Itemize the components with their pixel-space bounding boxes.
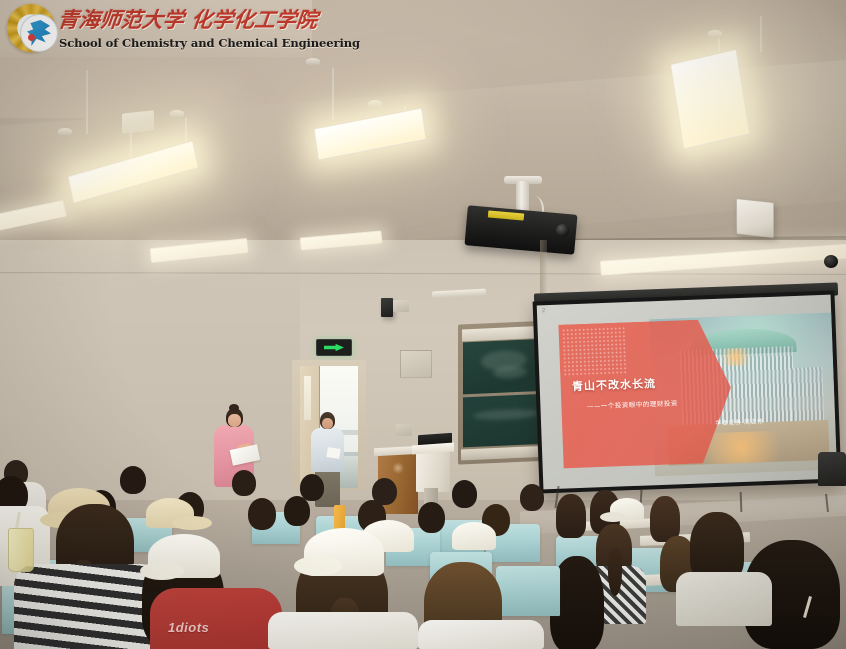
projection-screen: 2 青山不改水长流 ——一个投资眼中的理财投资 华泰证券 周志伟 xyxy=(533,291,842,494)
presenter-woman-hair-bun xyxy=(229,404,239,412)
lecture-seat[interactable] xyxy=(496,566,560,616)
seal-red-dot-icon xyxy=(28,34,35,41)
audience-head xyxy=(248,498,276,530)
security-camera-icon xyxy=(824,255,838,268)
wall-column-edge xyxy=(540,240,547,298)
light-hanger-wire xyxy=(86,70,88,134)
audience-cap xyxy=(452,522,496,550)
chair xyxy=(818,452,846,486)
wall-speaker-icon xyxy=(736,198,774,238)
audience-head xyxy=(284,496,310,526)
slide-subtitle: ——一个投资眼中的理财投资 xyxy=(587,394,767,411)
ceiling-light-panel xyxy=(670,49,750,149)
door-glass-panel xyxy=(304,376,311,420)
audience-head xyxy=(232,470,256,496)
lectern-emblem-icon xyxy=(392,462,404,474)
slide-text-block: 青山不改水长流 ——一个投资眼中的理财投资 华泰证券 周志伟 xyxy=(572,371,768,432)
audience-head xyxy=(120,466,146,494)
seal-inner-disc xyxy=(20,14,58,52)
wall-outlet xyxy=(396,424,412,436)
ceiling-speaker-icon xyxy=(368,100,382,107)
seal-bird-icon xyxy=(27,20,51,46)
ceiling-diffuser xyxy=(122,110,154,133)
audience-cap-brim xyxy=(140,562,184,580)
light-hanger-wire xyxy=(760,16,762,52)
exit-arrow-icon xyxy=(324,344,344,352)
av-control-console[interactable] xyxy=(416,450,450,492)
audience-head xyxy=(300,474,324,501)
audience-torso-red xyxy=(150,588,282,649)
light-hanger-wire xyxy=(332,68,334,120)
presenter-woman-face xyxy=(228,414,241,427)
audience-head xyxy=(520,484,544,511)
ceiling-speaker-icon xyxy=(306,58,320,65)
audience-cap-brim xyxy=(294,556,342,576)
audience-cap-brim xyxy=(600,512,626,522)
audience-torso xyxy=(268,612,418,649)
audience-torso xyxy=(676,572,772,626)
audience-torso-striped xyxy=(14,564,162,649)
audience-head xyxy=(418,502,445,533)
drink-cup xyxy=(8,528,34,572)
slide-dot-pattern xyxy=(561,326,627,376)
audience-torso xyxy=(418,620,544,649)
presenter-man-face xyxy=(322,418,333,429)
ceiling-speaker-icon xyxy=(170,110,184,117)
lecture-hall-photo: 2 青山不改水长流 ——一个投资眼中的理财投资 华泰证券 周志伟 xyxy=(0,0,846,649)
ceiling-speaker-icon xyxy=(708,30,722,37)
presenter-man-papers xyxy=(326,447,340,459)
audience-head xyxy=(452,480,477,508)
university-watermark: 青海师范大学 化学化工学院 School of Chemistry and Ch… xyxy=(0,0,312,57)
wall-bracket xyxy=(393,300,409,312)
watermark-english-title: School of Chemistry and Chemical Enginee… xyxy=(59,36,360,50)
university-seal-icon xyxy=(7,4,55,52)
audience-cap-brim xyxy=(172,516,212,530)
audience-ponytail xyxy=(608,548,622,596)
shirt-graphic-text: 1diots xyxy=(168,620,209,635)
watermark-chinese-title: 青海师范大学 化学化工学院 xyxy=(56,4,318,34)
emergency-exit-sign xyxy=(316,339,352,356)
ceiling-speaker-icon xyxy=(58,128,72,135)
wall-panel xyxy=(400,350,432,378)
audience-hair xyxy=(556,494,586,538)
wall-speaker-icon xyxy=(381,298,393,317)
projection-screen-surface: 2 青山不改水长流 ——一个投资眼中的理财投资 华泰证券 周志伟 xyxy=(537,295,838,490)
slide-page-number: 2 xyxy=(542,308,546,314)
